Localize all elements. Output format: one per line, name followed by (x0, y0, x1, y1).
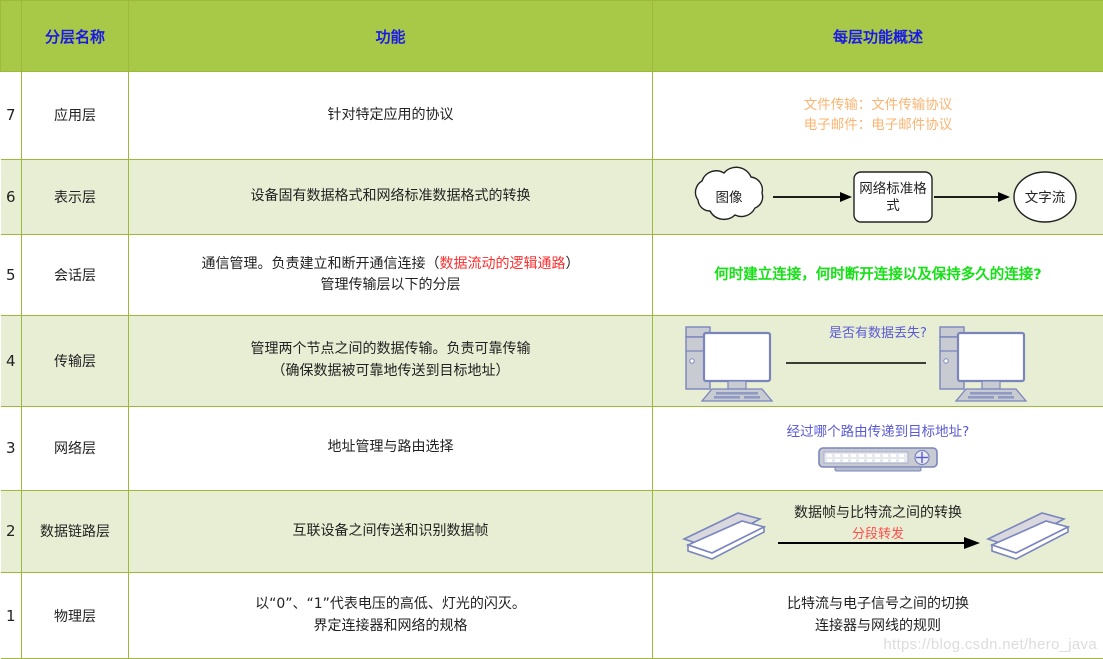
layer-overview: 是否有数据丢失? (653, 316, 1103, 407)
layer-function: 以“0”、“1”代表电压的高低、灯光的闪灭。 界定连接器和网络的规格 (129, 573, 653, 659)
session-function-post: ） (566, 256, 580, 272)
table-row: 6 表示层 设备固有数据格式和网络标准数据格式的转换 图像 (1, 159, 1103, 235)
datalink-diagram-labels: 数据帧与比特流之间的转换 分段转发 (794, 503, 962, 546)
layer-overview: 经过哪个路由传递到目标地址? (653, 406, 1103, 490)
box-label-line1: 网络标准格 (859, 181, 927, 197)
physical-overview-line2: 连接器与网线的规则 (661, 616, 1095, 638)
layer-overview: 比特流与电子信号之间的切换 连接器与网线的规则 https://blog.csd… (653, 573, 1103, 659)
circle-label: 文字流 (1025, 190, 1066, 206)
cloud-label: 图像 (716, 190, 744, 206)
layer-overview: 数据帧与比特流之间的转换 分段转发 (653, 490, 1103, 573)
osi-layer-table: 分层名称 功能 每层功能概述 7 应用层 针对特定应用的协议 文件传输：文件传输… (0, 0, 1103, 659)
header-cell-overview: 每层功能概述 (653, 1, 1103, 72)
header-cell-function: 功能 (129, 1, 653, 72)
session-function-line2: 管理传输层以下的分层 (139, 275, 642, 297)
physical-function-line1: 以“0”、“1”代表电压的高低、灯光的闪灭。 (139, 594, 642, 616)
physical-overview-line1: 比特流与电子信号之间的切换 (661, 594, 1095, 616)
transport-function-line2: （确保数据被可靠地传送到目标地址） (139, 361, 642, 383)
layer-overview: 何时建立连接，何时断开连接以及保持多久的连接? (653, 235, 1103, 316)
datalink-diagram-sublabel: 分段转发 (794, 525, 962, 545)
layer-function: 通信管理。负责建立和断开通信连接（数据流动的逻辑通路） 管理传输层以下的分层 (129, 235, 653, 316)
header-cell-index (1, 1, 22, 72)
table-row: 2 数据链路层 互联设备之间传送和识别数据帧 (1, 490, 1103, 573)
layer-name: 会话层 (22, 235, 129, 316)
layer-number: 3 (1, 406, 22, 490)
datalink-diagram: 数据帧与比特流之间的转换 分段转发 (661, 495, 1095, 569)
layer-number: 4 (1, 316, 22, 407)
table-row: 4 传输层 管理两个节点之间的数据传输。负责可靠传输 （确保数据被可靠地传送到目… (1, 316, 1103, 407)
layer-number: 1 (1, 573, 22, 659)
datalink-diagram-label: 数据帧与比特流之间的转换 (794, 505, 962, 521)
table-row: 3 网络层 地址管理与路由选择 经过哪个路由传递到目标地址? (1, 406, 1103, 490)
presentation-conversion-diagram: 图像 网络标准格 式 文字流 (661, 164, 1095, 231)
session-overview-text: 何时建立连接，何时断开连接以及保持多久的连接? (714, 267, 1041, 283)
table-header-row: 分层名称 功能 每层功能概述 (1, 1, 1103, 72)
session-function-highlight: 数据流动的逻辑通路 (440, 256, 566, 272)
network-diagram: 经过哪个路由传递到目标地址? (661, 411, 1095, 486)
layer-function: 设备固有数据格式和网络标准数据格式的转换 (129, 159, 653, 235)
presentation-diagram-svg: 图像 网络标准格 式 文字流 (668, 164, 1088, 230)
scanner-icon-left (684, 513, 764, 559)
box-label-line2: 式 (886, 198, 900, 214)
computer-icon-right (940, 327, 1026, 401)
transport-function-line1: 管理两个节点之间的数据传输。负责可靠传输 (139, 339, 642, 361)
layer-name: 数据链路层 (22, 490, 129, 573)
layer-name: 应用层 (22, 72, 129, 160)
computer-icon-left (686, 327, 772, 401)
layer-number: 5 (1, 235, 22, 316)
transport-diagram-label: 是否有数据丢失? (829, 324, 927, 344)
scanner-icon-right (988, 513, 1068, 559)
session-function-line1: 通信管理。负责建立和断开通信连接（数据流动的逻辑通路） (139, 254, 642, 276)
application-protocol-list: 文件传输：文件传输协议 电子邮件：电子邮件协议 (661, 95, 1095, 136)
table-row: 1 物理层 以“0”、“1”代表电压的高低、灯光的闪灭。 界定连接器和网络的规格… (1, 573, 1103, 659)
network-format-box (854, 172, 932, 222)
header-cell-layer-name: 分层名称 (22, 1, 129, 72)
session-function-pre: 通信管理。负责建立和断开通信连接（ (202, 256, 440, 272)
layer-function: 互联设备之间传送和识别数据帧 (129, 490, 653, 573)
router-icon (815, 445, 941, 475)
file-transfer-text: 文件传输：文件传输协议 (661, 95, 1095, 115)
layer-name: 网络层 (22, 406, 129, 490)
layer-name: 物理层 (22, 573, 129, 659)
layer-overview: 文件传输：文件传输协议 电子邮件：电子邮件协议 (653, 72, 1103, 160)
email-text: 电子邮件：电子邮件协议 (661, 115, 1095, 135)
layer-function: 针对特定应用的协议 (129, 72, 653, 160)
layer-function: 地址管理与路由选择 (129, 406, 653, 490)
layer-name: 表示层 (22, 159, 129, 235)
table-row: 7 应用层 针对特定应用的协议 文件传输：文件传输协议 电子邮件：电子邮件协议 (1, 72, 1103, 160)
transport-diagram: 是否有数据丢失? (661, 320, 1095, 402)
table-row: 5 会话层 通信管理。负责建立和断开通信连接（数据流动的逻辑通路） 管理传输层以… (1, 235, 1103, 316)
network-diagram-label: 经过哪个路由传递到目标地址? (787, 422, 970, 443)
layer-number: 6 (1, 159, 22, 235)
layer-number: 7 (1, 72, 22, 160)
layer-name: 传输层 (22, 316, 129, 407)
physical-overview: 比特流与电子信号之间的切换 连接器与网线的规则 (661, 594, 1095, 637)
physical-function-line2: 界定连接器和网络的规格 (139, 616, 642, 638)
layer-overview: 图像 网络标准格 式 文字流 (653, 159, 1103, 235)
layer-number: 2 (1, 490, 22, 573)
layer-function: 管理两个节点之间的数据传输。负责可靠传输 （确保数据被可靠地传送到目标地址） (129, 316, 653, 407)
